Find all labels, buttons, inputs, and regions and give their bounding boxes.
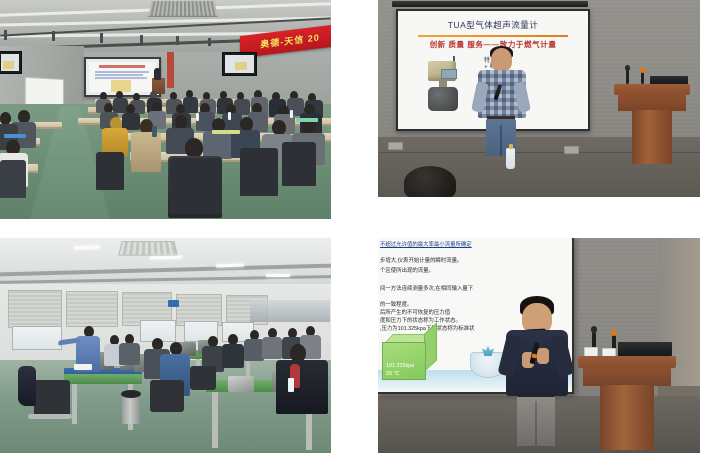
meter-display <box>441 69 457 79</box>
beam-hanger <box>52 31 55 41</box>
trainee-body-foreground <box>276 360 328 414</box>
attendee-body <box>183 97 198 113</box>
hanging-coat <box>18 366 36 406</box>
water-bottle <box>506 148 515 169</box>
beam-hanger <box>140 35 143 44</box>
wall-sign <box>168 300 179 307</box>
red-pillar <box>167 52 174 88</box>
trainee-body <box>222 344 244 368</box>
presenter <box>474 48 530 156</box>
window-blind <box>8 290 62 328</box>
photo-speaker-slide-2: 不超过允许值的最大率最小流量所确定 步增大,仪表开始计量的瞬时流量。 个区使所出… <box>378 238 700 453</box>
photo-speaker-slide-1: TUA型气体超声流量计 创新 质量 服务——致力于燃气计量 特点: 精度高 量程… <box>378 0 700 197</box>
wall-outlet <box>564 146 579 154</box>
training-equipment <box>228 376 254 392</box>
projection-screen <box>84 57 161 97</box>
standard-condition-cube: 101.325kpa 20 ℃ <box>382 334 436 378</box>
wall-outlet <box>388 142 403 150</box>
slide-text-line: 的一致程度。 <box>380 302 412 309</box>
podium-mic-head <box>591 326 597 333</box>
thermos <box>152 126 157 137</box>
slide-text-line: 个区使所出现的流量。 <box>380 268 434 275</box>
attendee-body-long-hair <box>131 132 161 172</box>
attendee-body <box>203 131 232 159</box>
ceiling-lamp <box>266 274 290 277</box>
flowmeter-illustration <box>420 59 472 113</box>
podium-front <box>618 95 686 111</box>
microphone-band <box>532 353 538 358</box>
chair-foreground <box>170 158 222 214</box>
cube-pressure-label: 101.325kpa <box>386 363 414 369</box>
chair-base <box>28 414 72 419</box>
equipment-rack <box>250 300 330 322</box>
screen-housing <box>392 1 588 7</box>
notebook <box>212 130 240 134</box>
whiteboard <box>25 77 64 108</box>
slide-title-bar <box>99 65 145 68</box>
presenter-hand-right <box>537 348 549 364</box>
beam-hanger <box>176 36 179 45</box>
laptop <box>618 342 672 356</box>
chair <box>190 366 216 390</box>
podium-top <box>578 356 676 368</box>
window-blind <box>66 291 118 327</box>
slide-text-line <box>95 71 149 73</box>
slide-text-line: 不超过允许值的最大率最小流量所确定 <box>380 242 472 249</box>
paper-stack <box>74 364 92 370</box>
trainee-body <box>262 337 282 359</box>
chair <box>96 152 124 190</box>
podium-mic-head <box>640 67 645 73</box>
podium-mic-head <box>611 329 617 336</box>
chair <box>0 160 26 198</box>
chair <box>282 142 316 186</box>
chair <box>150 380 184 412</box>
cube-front-face: 101.325kpa 20 ℃ <box>382 342 426 380</box>
podium-mic-stem <box>626 70 629 84</box>
screen-surface <box>89 62 156 92</box>
beam-hanger <box>100 33 103 43</box>
slide-divider <box>418 35 568 37</box>
wall-monitor-left <box>0 51 22 74</box>
slide-title: TUA型气体超声流量计 <box>398 19 588 31</box>
cube-temperature-label: 20 ℃ <box>386 371 400 377</box>
podium <box>578 338 676 450</box>
attendee-head <box>240 117 253 131</box>
trainee-body <box>244 339 264 361</box>
wall-monitor-right <box>222 52 257 76</box>
slide-text-line: 度和压力下的状态称为工作状态。 <box>380 318 461 325</box>
slide-text-line: 步增大,仪表开始计量的瞬时流量。 <box>380 258 462 265</box>
foreground-attendee-head <box>404 166 456 197</box>
podium-front <box>583 368 671 386</box>
photo-classroom-audience: 奥德-天信 20 <box>0 0 331 219</box>
water-bottle <box>288 378 294 392</box>
attendee-head <box>272 120 286 135</box>
chair <box>34 380 70 418</box>
slide-text-line: 后所产生的不可恢复的压力值 <box>380 310 450 317</box>
beam-hanger <box>4 30 7 40</box>
podium-column <box>632 110 672 164</box>
slide-text-line: 间一方法连续测量多次,在相同输入量下 <box>380 286 473 293</box>
monitor-diagram <box>3 61 14 69</box>
podium-top <box>614 84 690 95</box>
photo-workshop-training <box>0 238 331 453</box>
presenter <box>504 296 578 446</box>
plant-icon <box>482 346 494 356</box>
photo-collage: 奥德-天信 20 <box>0 0 710 459</box>
meter-head <box>428 61 456 81</box>
slide-text-line <box>95 77 147 79</box>
meter-body <box>428 87 458 111</box>
slide-diagram <box>111 80 131 92</box>
water-bottle <box>196 113 199 121</box>
slide-text-line <box>95 74 143 76</box>
bench-leg <box>72 384 77 424</box>
monitor-screen <box>1 54 19 71</box>
chair <box>240 148 278 196</box>
ceiling-vent <box>148 1 218 17</box>
water-bottle <box>228 112 231 120</box>
podium-mic-stem <box>641 72 644 84</box>
attendee-head <box>175 115 187 129</box>
monitor-diagram <box>235 62 247 70</box>
presenter-head <box>491 48 512 72</box>
attendee-head-foreground <box>185 138 203 158</box>
monitor-screen <box>225 55 254 73</box>
ceiling-vent <box>118 241 177 256</box>
trash-bin <box>122 396 140 424</box>
workbench-green <box>64 374 142 384</box>
speaker-figure <box>154 68 161 80</box>
notebook <box>4 134 26 138</box>
window <box>12 326 62 350</box>
trainee-body <box>119 343 140 365</box>
podium-column <box>600 385 654 450</box>
podium-mic-head <box>625 65 630 71</box>
podium <box>614 74 690 164</box>
notebook <box>296 118 318 122</box>
presenter-trousers <box>517 397 555 446</box>
beam-hanger <box>208 38 211 46</box>
bench-leg <box>212 392 218 448</box>
water-bottle <box>290 110 293 118</box>
